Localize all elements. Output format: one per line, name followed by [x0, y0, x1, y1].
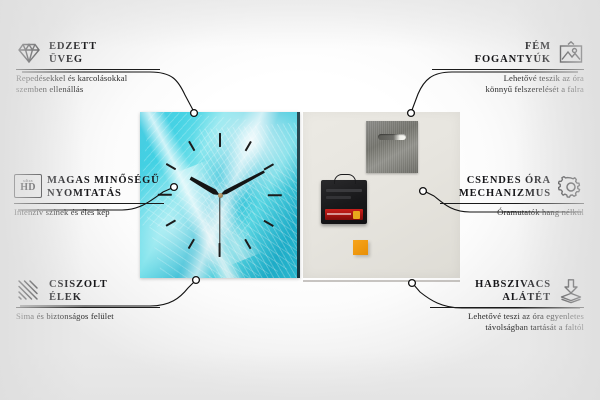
callout-title: CSISZOLTÉLEK [49, 278, 108, 304]
hour-tick [219, 133, 221, 195]
gear-icon [558, 174, 584, 200]
battery-stripe [327, 213, 351, 215]
callout-rule [432, 69, 584, 70]
mechanism-detail [326, 196, 351, 199]
battery-terminal [353, 211, 360, 219]
callout-title: CSENDES ÓRAMECHANIZMUS [459, 174, 551, 200]
callout-high-quality-print: ultra HD MAGAS MINŐSÉGŰNYOMTATÁS Intenzí… [14, 174, 186, 218]
callout-header: ultra HD MAGAS MINŐSÉGŰNYOMTATÁS [14, 174, 186, 200]
metal-hanger-plate [366, 121, 418, 173]
callout-title: HABSZIVACSALÁTÉT [475, 278, 551, 304]
polished-edges-icon [16, 278, 42, 304]
callout-rule [16, 69, 160, 70]
mechanism-hook [334, 174, 356, 184]
callout-header: CSENDES ÓRAMECHANIZMUS [432, 174, 584, 200]
clock-center-cap [218, 193, 223, 198]
callout-rule [430, 307, 584, 308]
callout-description: Intenzív színek és éles kép [14, 207, 186, 218]
callout-title: EDZETTÜVEG [49, 40, 97, 66]
foam-pad-arrow-icon [558, 278, 584, 304]
callout-rule [16, 307, 160, 308]
callout-rule [14, 203, 164, 204]
callout-header: HABSZIVACSALÁTÉT [422, 278, 584, 304]
clock-mechanism [321, 180, 367, 224]
callout-foam-pad: HABSZIVACSALÁTÉT Lehetővé teszi az óra e… [422, 278, 584, 333]
battery [325, 209, 363, 220]
callout-description: Óramutatók hang nélkül [432, 207, 584, 218]
callout-description: Repedésekkel és karcolásokkalszemben ell… [16, 73, 176, 95]
diamond-icon [16, 40, 42, 66]
callout-metal-handles: FÉMFOGANTYÚK Lehetővé teszik az órakönny… [424, 40, 584, 95]
hanging-frame-icon [558, 40, 584, 66]
hanger-slot [378, 134, 406, 140]
callout-title: MAGAS MINŐSÉGŰNYOMTATÁS [47, 174, 160, 200]
callout-title: FÉMFOGANTYÚK [475, 40, 551, 66]
metal-grain [366, 121, 418, 173]
callout-tempered-glass: EDZETTÜVEG Repedésekkel és karcolásokkal… [16, 40, 176, 95]
ultra-hd-badge: ultra HD [14, 174, 42, 198]
glass-edge [297, 112, 300, 278]
callout-polished-edges: CSISZOLTÉLEK Sima és biztonságos felület [16, 278, 176, 322]
infographic-canvas: EDZETTÜVEG Repedésekkel és karcolásokkal… [0, 0, 600, 400]
callout-header: CSISZOLTÉLEK [16, 278, 176, 304]
callout-rule [440, 203, 584, 204]
foam-spacer-pad [353, 240, 368, 255]
mechanism-detail [326, 189, 362, 192]
callout-header: EDZETTÜVEG [16, 40, 176, 66]
callout-description: Lehetővé teszik az órakönnyű felszerelés… [424, 73, 584, 95]
callout-header: FÉMFOGANTYÚK [424, 40, 584, 66]
callout-silent-mechanism: CSENDES ÓRAMECHANIZMUS Óramutatók hang n… [432, 174, 584, 218]
callout-description: Sima és biztonságos felület [16, 311, 176, 322]
product-image [140, 112, 460, 280]
hour-tick [220, 194, 282, 196]
callout-description: Lehetővé teszi az óra egyenletestávolság… [422, 311, 584, 333]
ultra-hd-icon: ultra HD [14, 174, 40, 200]
